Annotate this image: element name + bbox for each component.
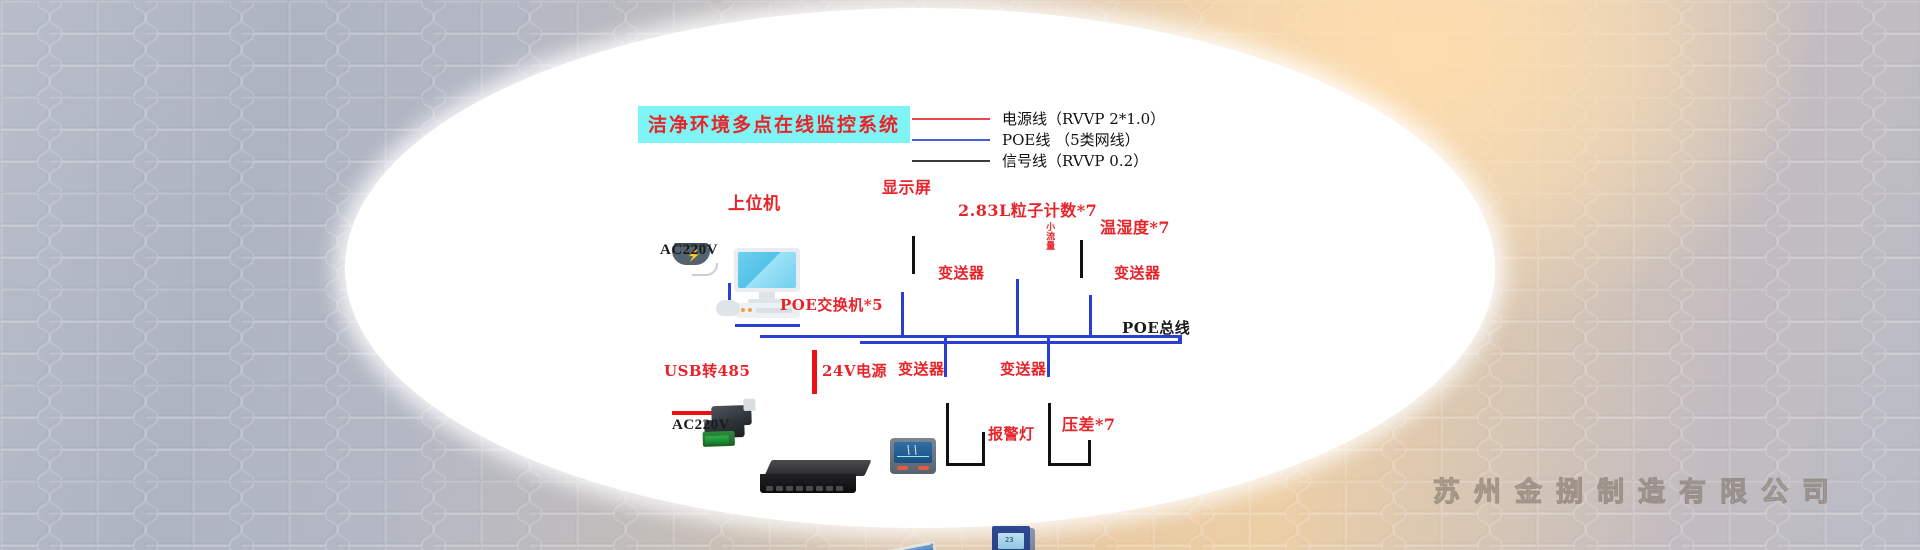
switch-port	[776, 486, 783, 491]
label-temp-humidity: 温湿度*7	[1100, 220, 1170, 236]
legend-label-poe-line: POE线 （5类网线）	[1002, 129, 1140, 150]
legend-label-signal-line: 信号线（RVVP 0.2）	[1002, 150, 1148, 171]
wire-dp-vertical-right	[1088, 440, 1091, 466]
switch-port	[796, 486, 803, 491]
switch-port-row	[766, 486, 843, 491]
wire-probe-to-transmitter	[1080, 240, 1083, 278]
company-watermark: 苏州金捌制造有限公司	[1433, 470, 1843, 509]
wire-24v-power	[812, 350, 817, 394]
transmitter-display-icon: 多点变送器	[878, 541, 941, 550]
switch-port	[836, 486, 843, 491]
power-line-swatch	[912, 118, 990, 120]
label-usb-to-485: USB转485	[664, 364, 750, 379]
hmi-display-icon	[890, 438, 936, 474]
label-ac220v-psu: AC220V	[672, 418, 730, 433]
legend-label-power-line: 电源线（RVVP 2*1.0）	[1002, 108, 1165, 129]
label-display-screen: 显示屏	[882, 180, 932, 196]
hmi-screen	[894, 442, 932, 463]
wire-riser-dp-transmitter	[1047, 337, 1050, 377]
switch-port	[766, 486, 773, 491]
wire-display-to-transmitter	[912, 236, 915, 274]
switch-port	[826, 486, 833, 491]
poe-switch-icon	[760, 460, 870, 500]
poe-bus-wire	[760, 335, 1182, 338]
wire-switch-left-stub	[762, 324, 800, 327]
label-transmitter-th: 变送器	[1114, 266, 1161, 281]
pc-led-2	[748, 308, 752, 312]
label-transmitter-display: 变送器	[938, 266, 985, 281]
label-differential-pressure: 压差*7	[1062, 417, 1116, 433]
label-particle-counter: 2.83L粒子计数*7	[958, 203, 1097, 219]
particle-counter-icon: 23 粒子计数器	[992, 526, 1036, 550]
legend-item-signal-line: 信号线（RVVP 0.2）	[912, 150, 1165, 171]
hmi-button-left[interactable]	[897, 466, 908, 470]
pc-mouse	[716, 300, 740, 316]
wire-riser-th-transmitter	[1089, 295, 1092, 337]
converter-usb-tip	[743, 399, 755, 411]
poe-line-swatch	[912, 139, 990, 141]
monitor-bezel	[734, 248, 800, 292]
hmi-waveform-spike	[907, 445, 916, 455]
counter-reading: 23	[1005, 536, 1013, 544]
converter-terminal	[705, 435, 729, 444]
wire-alarm-vertical-left	[946, 403, 949, 466]
legend: 电源线（RVVP 2*1.0） POE线 （5类网线） 信号线（RVVP 0.2…	[912, 108, 1165, 171]
label-poe-switch: POE交换机*5	[780, 298, 883, 313]
label-host-pc: 上位机	[728, 196, 781, 213]
diagram-canvas: 洁净环境多点在线监控系统 电源线（RVVP 2*1.0） POE线 （5类网线）…	[0, 0, 1920, 550]
hmi-button-right[interactable]	[918, 466, 929, 470]
label-24v-power: 24V电源	[822, 364, 887, 379]
switch-port	[786, 486, 793, 491]
monitor-screen	[738, 252, 796, 288]
wire-dp-horizontal	[1048, 463, 1091, 466]
label-transmitter-alarm: 变送器	[898, 362, 945, 377]
legend-item-power-line: 电源线（RVVP 2*1.0）	[912, 108, 1165, 129]
wire-alarm-vertical-right	[982, 432, 985, 466]
legend-item-poe-line: POE线 （5类网线）	[912, 129, 1165, 150]
wire-dp-vertical-left	[1048, 403, 1051, 466]
wire-riser-particle-counter	[1016, 279, 1019, 337]
page-title: 洁净环境多点在线监控系统	[638, 106, 910, 143]
label-alarm-light: 报警灯	[988, 427, 1035, 442]
label-small-flow: 小流量	[1044, 222, 1053, 251]
pc-led-1	[741, 308, 745, 312]
label-transmitter-dp: 变送器	[1000, 362, 1047, 377]
label-poe-bus: POE总线	[1122, 321, 1190, 336]
switch-port	[816, 486, 823, 491]
poe-bus-wire-tail	[860, 341, 1182, 344]
wire-alarm-horizontal	[946, 463, 985, 466]
switch-port	[806, 486, 813, 491]
signal-line-swatch	[912, 160, 990, 162]
wire-riser-display-transmitter	[901, 292, 904, 337]
